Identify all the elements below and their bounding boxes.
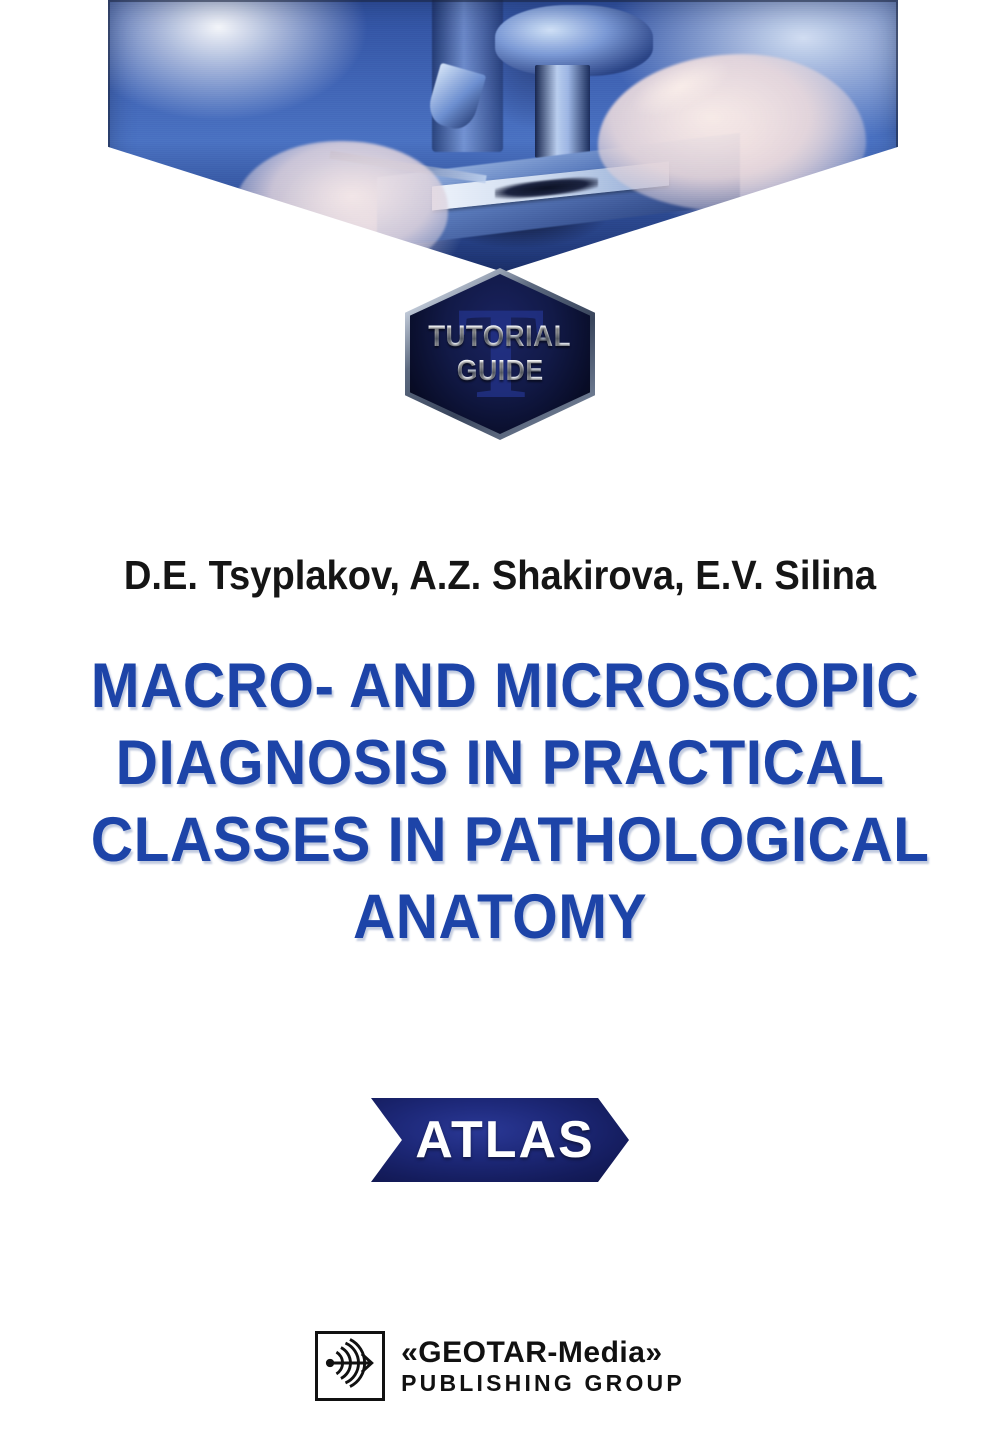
authors-line: D.E. Tsyplakov, A.Z. Shakirova, E.V. Sil… [35,552,965,599]
geotar-arrow-waves-icon [315,1331,385,1401]
publisher-name: «GEOTAR-Media» [401,1337,685,1369]
microscope-photo [108,0,898,272]
publisher-block: «GEOTAR-Media» PUBLISHING GROUP [0,1331,1000,1401]
badge-line-guide: GUIDE [457,357,544,387]
badge-text-stack: TUTORIAL GUIDE [410,274,590,434]
badge-line-tutorial: TUTORIAL [429,322,572,353]
book-cover: T TUTORIAL GUIDE D.E. Tsyplakov, A.Z. Sh… [0,0,1000,1437]
publisher-subtitle: PUBLISHING GROUP [401,1371,685,1395]
atlas-banner: ATLAS [371,1098,629,1182]
photo-edge-shadow [108,0,898,272]
atlas-label: ATLAS [405,1110,594,1170]
publisher-text: «GEOTAR-Media» PUBLISHING GROUP [401,1337,685,1395]
title-line-1: MACRO- AND MICROSCOPIC [91,648,909,725]
book-title: MACRO- AND MICROSCOPIC DIAGNOSIS IN PRAC… [60,648,940,955]
title-line-2: DIAGNOSIS IN PRACTICAL [91,725,909,802]
tutorial-guide-badge: T TUTORIAL GUIDE [405,268,595,440]
title-line-3: CLASSES IN PATHOLOGICAL [91,802,909,879]
badge-inner-face: T TUTORIAL GUIDE [410,274,590,434]
title-line-4: ANATOMY [91,879,909,956]
